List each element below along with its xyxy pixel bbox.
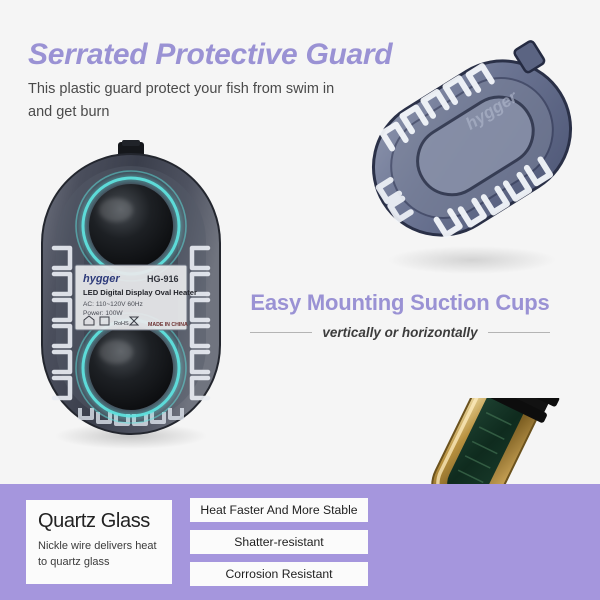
guard-body-group: hygger bbox=[352, 33, 592, 261]
serrated-guard-svg: hygger bbox=[352, 28, 592, 280]
guard-description: This plastic guard protect your fish fro… bbox=[28, 78, 358, 125]
divider-right bbox=[488, 332, 550, 333]
oval-heater-svg: hygger HG-916 LED Digital Display Oval H… bbox=[26, 140, 236, 450]
infographic-page: Serrated Protective Guard This plastic g… bbox=[0, 0, 600, 600]
power-cable bbox=[122, 140, 140, 146]
quartz-glass-card: Quartz Glass Nickle wire delivers heat t… bbox=[26, 500, 172, 584]
suction-cups-subtitle: vertically or horizontally bbox=[322, 325, 477, 340]
serrated-guard-product-image: hygger bbox=[352, 28, 592, 280]
suction-cups-heading: Easy Mounting Suction Cups bbox=[232, 290, 568, 316]
label-voltage: AC: 110~120V 60Hz bbox=[83, 301, 143, 308]
quartz-glass-title: Quartz Glass bbox=[38, 511, 160, 532]
label-product-name: LED Digital Display Oval Heater bbox=[83, 288, 197, 297]
quartz-glass-description: Nickle wire delivers heat to quartz glas… bbox=[38, 539, 160, 571]
feature-list: Heat Faster And More Stable Shatter-resi… bbox=[190, 498, 368, 586]
product-spec-label: hygger HG-916 LED Digital Display Oval H… bbox=[75, 265, 197, 330]
label-model: HG-916 bbox=[147, 274, 179, 284]
suction-cup-dome-lower bbox=[89, 326, 173, 410]
feature-item: Heat Faster And More Stable bbox=[190, 498, 368, 522]
suction-subtitle-row: vertically or horizontally bbox=[232, 325, 568, 340]
label-brand: hygger bbox=[83, 273, 120, 285]
cup-highlight-upper bbox=[99, 198, 133, 222]
label-origin: MADE IN CHINA bbox=[148, 322, 188, 328]
divider-left bbox=[250, 332, 312, 333]
suction-cups-section: Easy Mounting Suction Cups vertically or… bbox=[232, 290, 568, 340]
guard-heading: Serrated Protective Guard bbox=[28, 38, 392, 72]
guard-shadow bbox=[388, 246, 556, 274]
rohs-icon: RoHS bbox=[114, 321, 129, 327]
oval-heater-product-image: hygger HG-916 LED Digital Display Oval H… bbox=[26, 140, 236, 450]
bottom-feature-band: Quartz Glass Nickle wire delivers heat t… bbox=[0, 484, 600, 600]
feature-item: Shatter-resistant bbox=[190, 530, 368, 554]
feature-item: Corrosion Resistant bbox=[190, 562, 368, 586]
cup-highlight-lower bbox=[99, 340, 133, 364]
suction-cup-dome-upper bbox=[89, 184, 173, 268]
